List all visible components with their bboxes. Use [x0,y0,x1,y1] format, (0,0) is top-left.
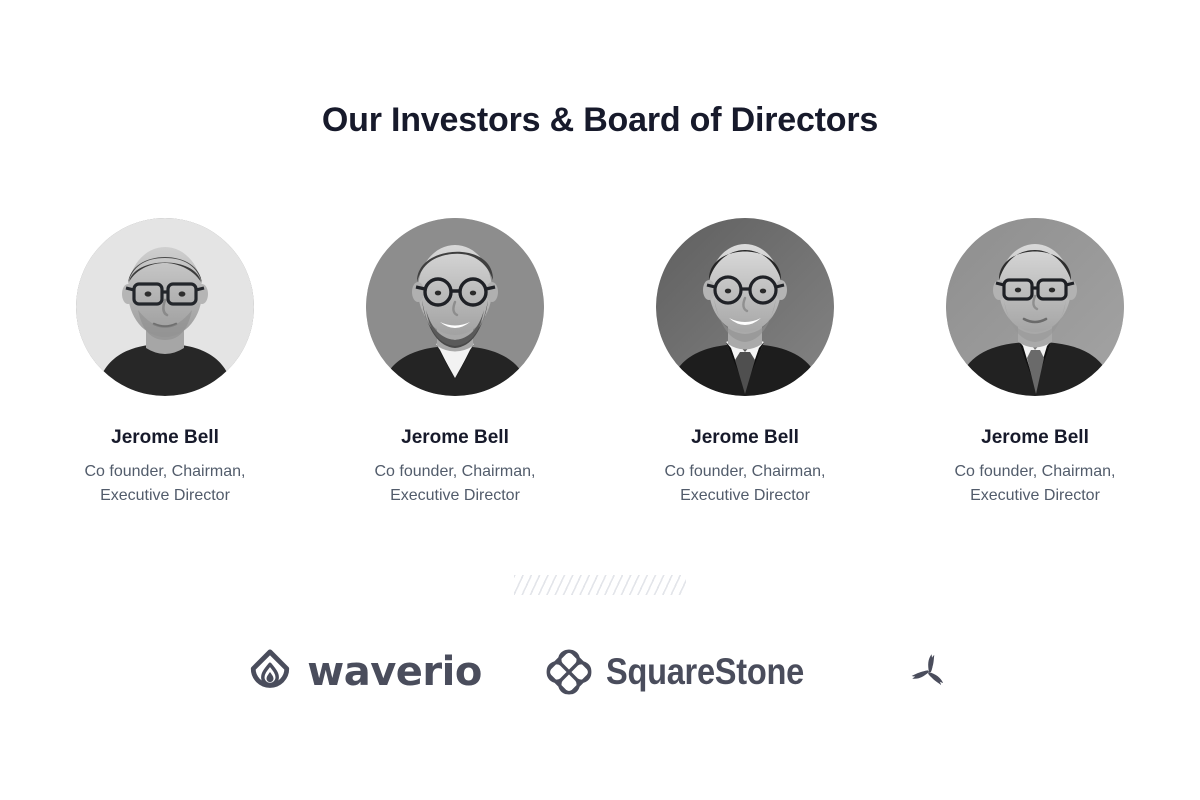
diagonal-stripes-icon [514,575,686,595]
avatar [366,218,544,396]
partner-logo-waverio[interactable]: waverio [247,649,482,695]
partner-logos-row: waverio SquareStone [0,648,1200,696]
team-member-role: Co founder, Chairman, Executive Director [930,460,1140,508]
squarestone-knot-icon [546,649,592,695]
partner-logo-propeller[interactable] [905,648,953,696]
partner-logo-squarestone-word: SquareStone [606,651,804,693]
team-member-role: Co founder, Chairman, Executive Director [640,460,850,508]
team-member-name: Jerome Bell [981,426,1089,450]
investors-page: Our Investors & Board of Directors [0,0,1200,800]
partner-logo-waverio-word: waverio [307,649,482,695]
team-member-name: Jerome Bell [111,426,219,450]
propeller-triskelion-icon [905,648,953,696]
avatar [76,218,254,396]
team-member-card[interactable]: Jerome Bell Co founder, Chairman, Execut… [910,218,1160,508]
team-member-card[interactable]: Jerome Bell Co founder, Chairman, Execut… [40,218,290,508]
team-member-name: Jerome Bell [691,426,799,450]
avatar [656,218,834,396]
team-member-role: Co founder, Chairman, Executive Director [350,460,560,508]
partner-logo-squarestone[interactable]: SquareStone [546,649,831,695]
avatar [946,218,1124,396]
team-member-card[interactable]: Jerome Bell Co founder, Chairman, Execut… [620,218,870,508]
waverio-flame-icon [247,649,293,695]
team-member-card[interactable]: Jerome Bell Co founder, Chairman, Execut… [330,218,580,508]
team-members-row: Jerome Bell Co founder, Chairman, Execut… [40,218,1160,508]
section-divider [0,575,1200,595]
team-member-role: Co founder, Chairman, Executive Director [60,460,270,508]
team-member-name: Jerome Bell [401,426,509,450]
page-title: Our Investors & Board of Directors [0,97,1200,143]
